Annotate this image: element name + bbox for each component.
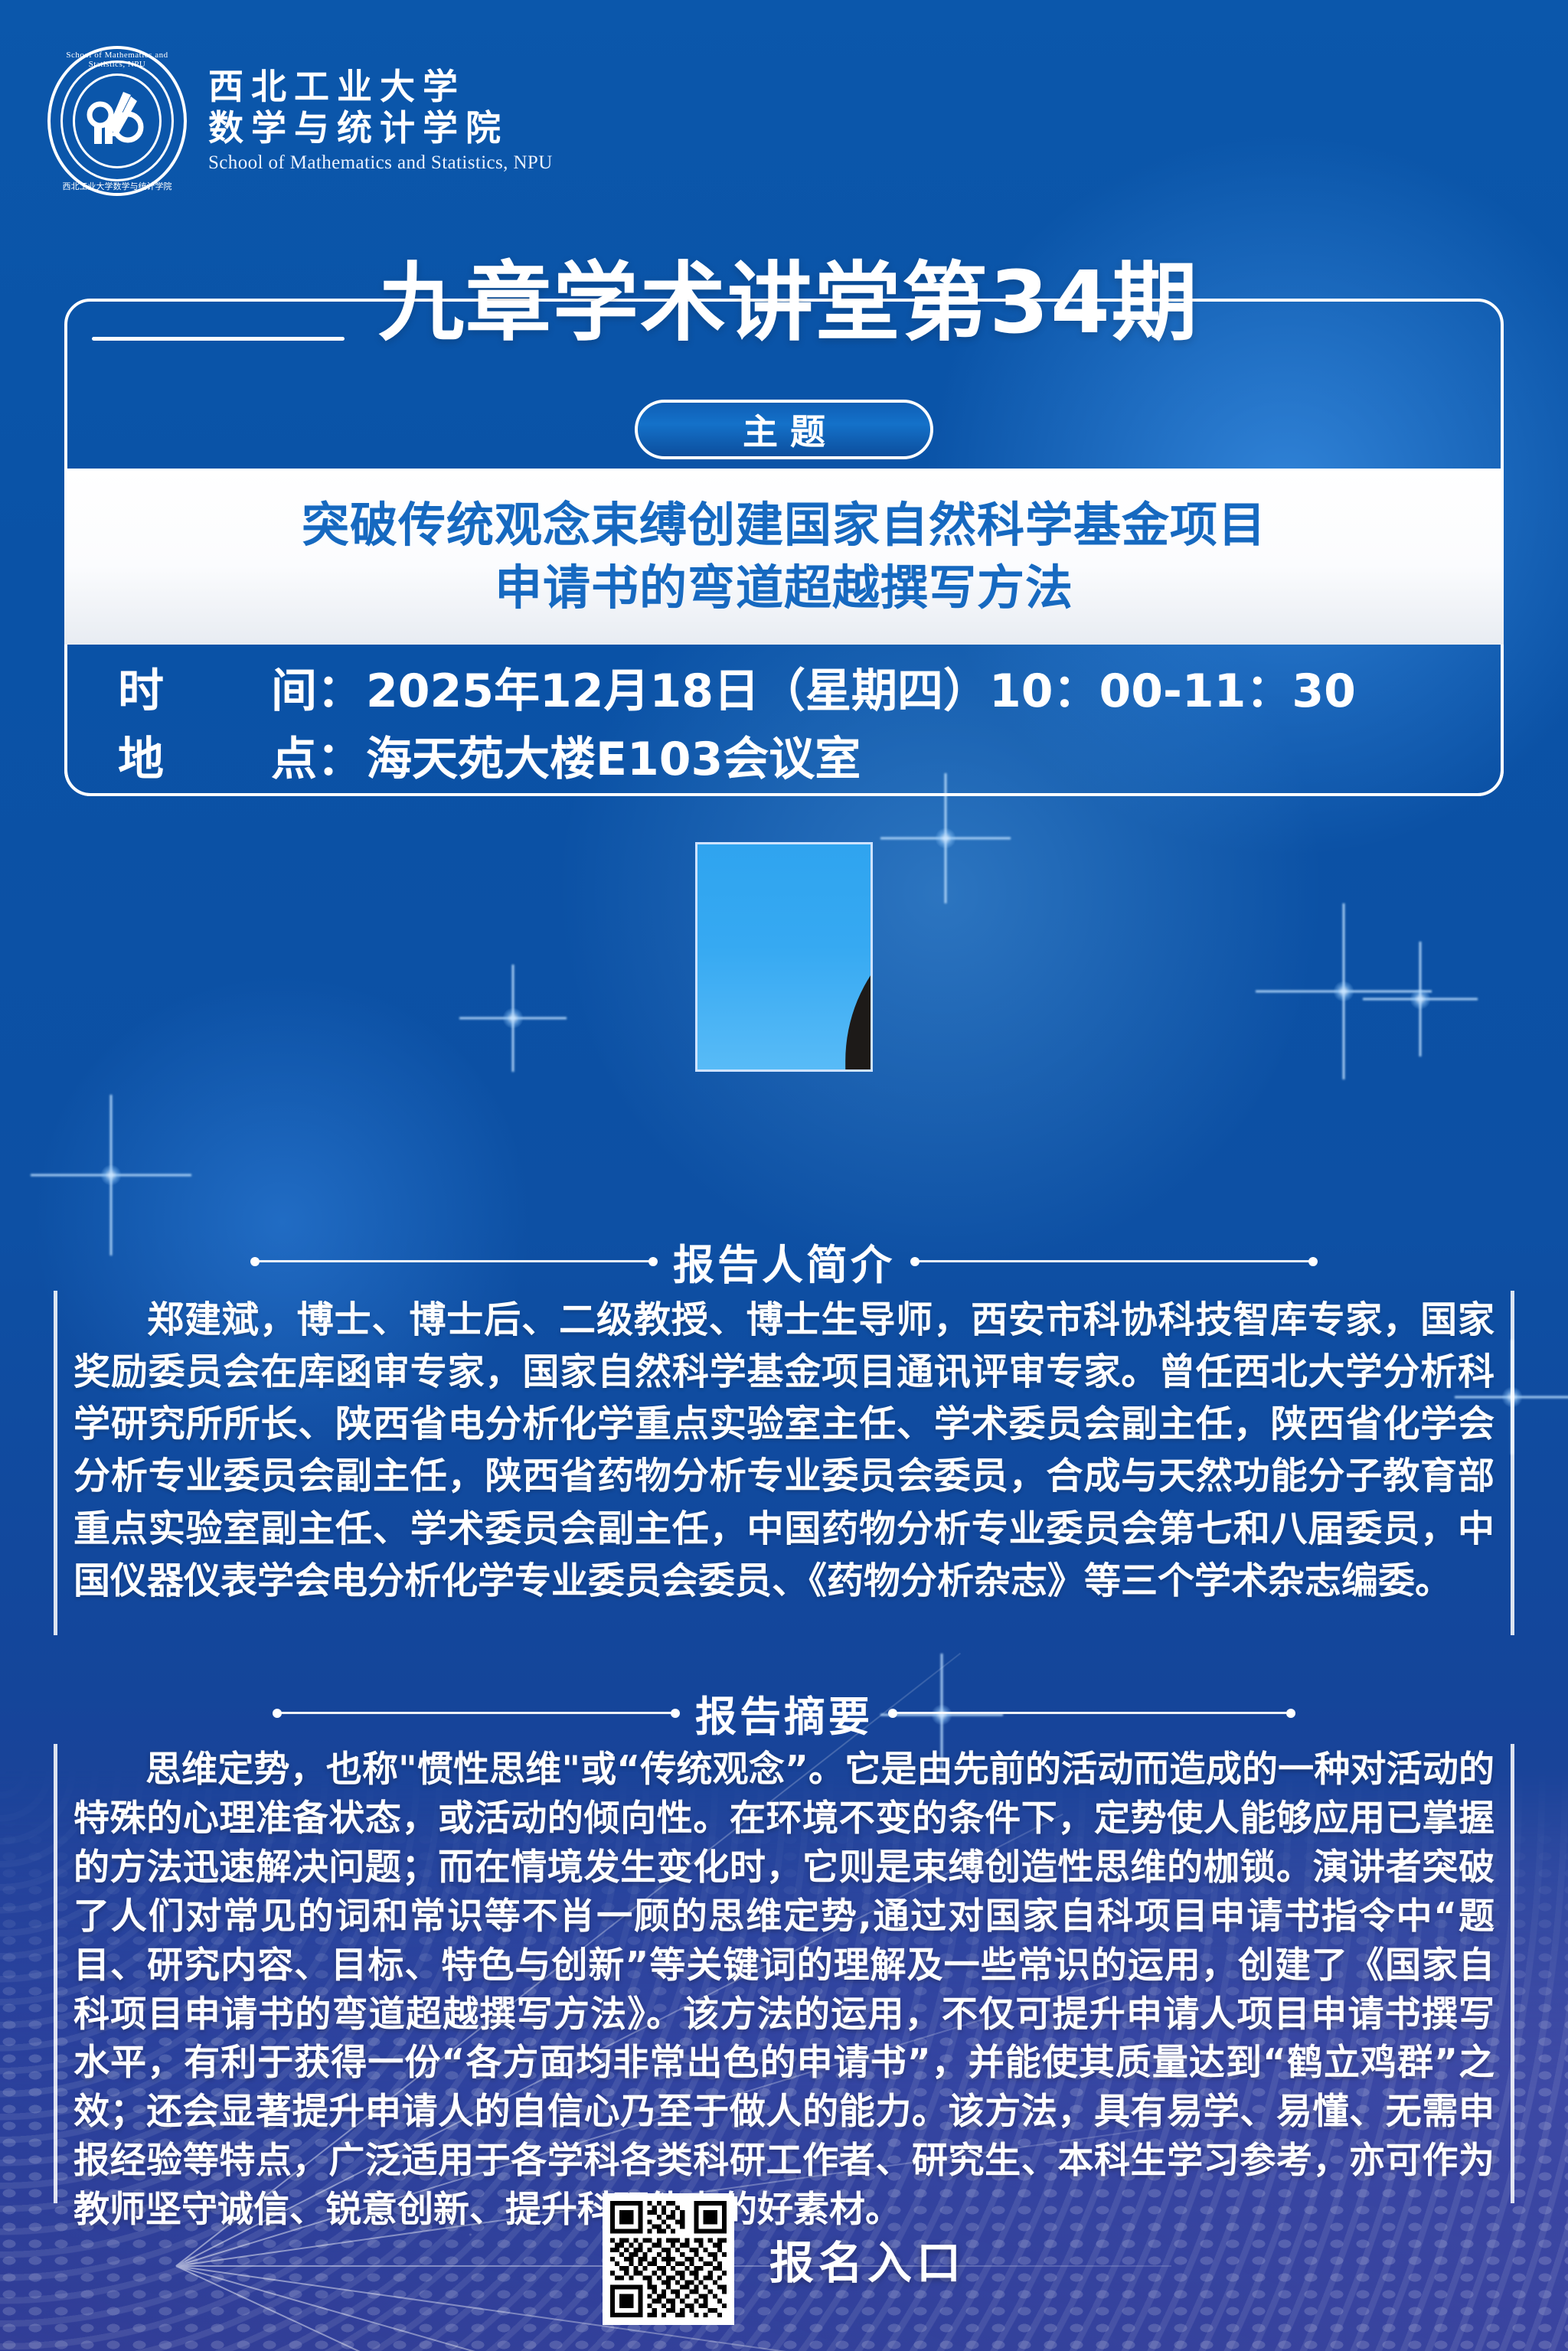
bio-right-accent (1511, 1291, 1514, 1635)
abstract-section-heading: 报告摘要 (0, 1683, 1568, 1743)
sparkle-decoration (1363, 942, 1478, 1056)
heading-rule-right (915, 1260, 1313, 1262)
crest-bottom-text: 西北工业大学数学与统计学院 (47, 180, 187, 192)
time-value: 2025年12月18日（星期四）10：00-11：30 (366, 654, 1356, 720)
poster-root: School of Mathematics and Statistics, NP… (0, 0, 1568, 2351)
topic-line-2: 申请书的弯道超越撰写方法 (495, 559, 1073, 617)
school-name-en: School of Mathematics and Statistics, NP… (208, 152, 553, 174)
abstract-right-accent (1511, 1744, 1514, 2203)
time-label: 时 间： (110, 654, 363, 720)
signup-label: 报名入口 (769, 2227, 965, 2291)
event-place-row: 地 点： 海天苑大楼E103会议室 (110, 722, 1501, 789)
brand-lockup: School of Mathematics and Statistics, NP… (47, 46, 553, 196)
sparkle-decoration (1256, 903, 1432, 1079)
speaker-portrait (695, 842, 873, 1072)
qr-code-icon (610, 2201, 727, 2317)
registration-qr-code[interactable] (603, 2193, 734, 2325)
page-title: 九章学术讲堂第34期 (360, 260, 1217, 346)
heading-rule-left (255, 1260, 653, 1262)
abstract-text: 思维定势，也称"惯性思维"或“传统观念”。它是由先前的活动而造成的一种对活动的特… (73, 1745, 1494, 2235)
school-name-block: 西北工业大学 数学与统计学院 School of Mathematics and… (208, 68, 553, 175)
speaker-section-title: 报告人简介 (673, 1231, 895, 1291)
place-value: 海天苑大楼E103会议室 (366, 722, 861, 789)
heading-rule-right (893, 1712, 1291, 1714)
bio-left-accent (54, 1291, 57, 1635)
event-time-row: 时 间： 2025年12月18日（星期四）10：00-11：30 (110, 654, 1501, 720)
registration-footer: 报名入口 (0, 2167, 1568, 2351)
theme-badge: 主题 (635, 400, 933, 459)
npu-emblem-icon (80, 89, 154, 153)
abstract-left-accent (54, 1744, 57, 2203)
university-name-cn: 西北工业大学 (208, 68, 553, 105)
school-name-cn: 数学与统计学院 (208, 109, 553, 146)
crest-top-text: School of Mathematics and Statistics, NP… (47, 51, 187, 69)
sparkle-decoration (459, 965, 567, 1072)
topic-panel: 突破传统观念束缚创建国家自然科学基金项目 申请书的弯道超越撰写方法 (64, 469, 1504, 645)
event-info-panel: 时 间： 2025年12月18日（星期四）10：00-11：30 地 点： 海天… (64, 649, 1504, 796)
university-crest-icon: School of Mathematics and Statistics, NP… (47, 46, 187, 196)
speaker-bio-text: 郑建斌，博士、博士后、二级教授、博士生导师，西安市科协科技智库专家，国家奖励委员… (73, 1294, 1494, 1607)
speaker-section-heading: 报告人简介 (0, 1231, 1568, 1291)
portrait-inner (697, 844, 873, 1072)
title-decorative-rule (92, 337, 345, 341)
topic-line-1: 突破传统观念束缚创建国家自然科学基金项目 (302, 496, 1266, 554)
heading-rule-left (277, 1712, 675, 1714)
place-label: 地 点： (110, 722, 363, 789)
abstract-section-title: 报告摘要 (695, 1683, 873, 1743)
